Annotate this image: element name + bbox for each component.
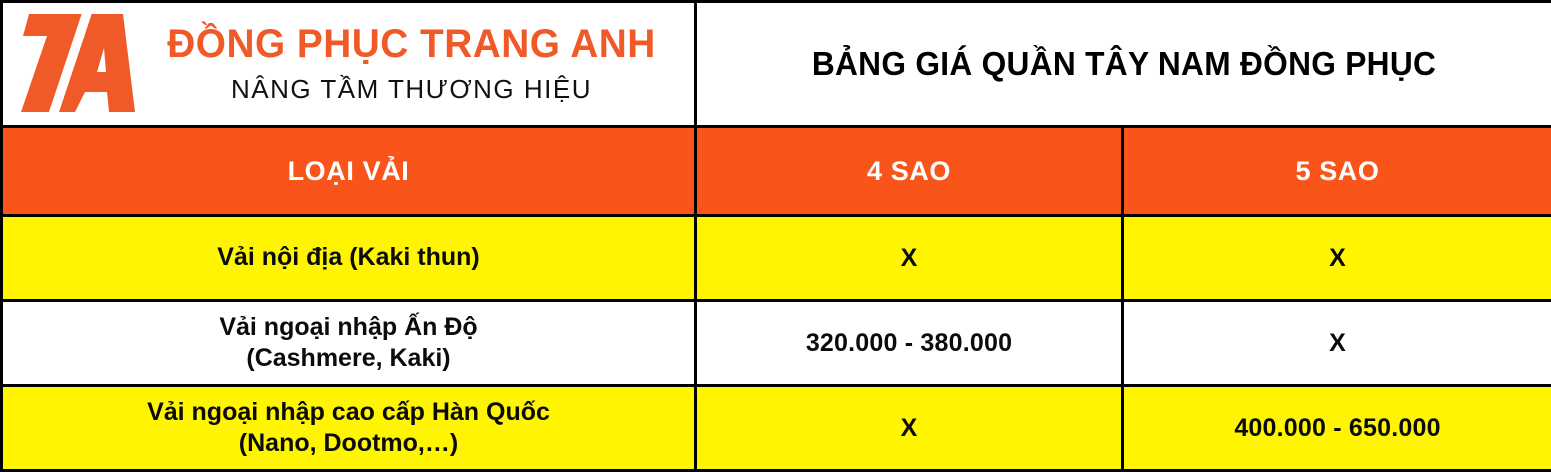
price-4sao-value: X — [697, 244, 1121, 273]
price-5sao-value: X — [1124, 244, 1551, 273]
fabric-name-line2: (Nano, Dootmo,…) — [13, 428, 684, 459]
price-5sao-value: 400.000 - 650.000 — [1124, 414, 1551, 443]
price-5sao-cell: X — [1123, 216, 1551, 301]
fabric-name-line2: (Cashmere, Kaki) — [13, 343, 684, 374]
price-4sao-cell: X — [696, 216, 1123, 301]
column-header-fabric: LOẠI VẢI — [2, 127, 696, 216]
price-4sao-value: X — [697, 414, 1121, 443]
price-4sao-cell: X — [696, 386, 1123, 471]
brand-tagline: NÂNG TẦM THƯƠNG HIỆU — [129, 73, 694, 106]
table-row: Vải nội địa (Kaki thun) X X — [2, 216, 1551, 301]
column-header-5sao: 5 SAO — [1123, 127, 1551, 216]
fabric-name-cell: Vải nội địa (Kaki thun) — [2, 216, 696, 301]
price-table: ĐỒNG PHỤC TRANG ANH NÂNG TẦM THƯƠNG HIỆU… — [0, 0, 1551, 472]
column-header-4sao-label: 4 SAO — [697, 156, 1121, 187]
fabric-name-cell: Vải ngoại nhập Ấn Độ (Cashmere, Kaki) — [2, 301, 696, 386]
price-5sao-cell: X — [1123, 301, 1551, 386]
table-row: Vải ngoại nhập cao cấp Hàn Quốc (Nano, D… — [2, 386, 1551, 471]
brand-cell: ĐỒNG PHỤC TRANG ANH NÂNG TẦM THƯƠNG HIỆU — [2, 2, 696, 127]
page-title: BẢNG GIÁ QUẦN TÂY NAM ĐỒNG PHỤC — [714, 45, 1534, 83]
column-header-5sao-label: 5 SAO — [1124, 156, 1551, 187]
table-header-banner: ĐỒNG PHỤC TRANG ANH NÂNG TẦM THƯƠNG HIỆU… — [2, 2, 1551, 127]
table-row: Vải ngoại nhập Ấn Độ (Cashmere, Kaki) 32… — [2, 301, 1551, 386]
fabric-name-cell: Vải ngoại nhập cao cấp Hàn Quốc (Nano, D… — [2, 386, 696, 471]
fabric-name-line1: Vải nội địa (Kaki thun) — [217, 243, 480, 271]
fabric-name-line1: Vải ngoại nhập cao cấp Hàn Quốc — [13, 397, 684, 428]
column-header-fabric-label: LOẠI VẢI — [3, 156, 694, 187]
price-4sao-value: 320.000 - 380.000 — [697, 329, 1121, 358]
price-4sao-cell: 320.000 - 380.000 — [696, 301, 1123, 386]
column-header-row: LOẠI VẢI 4 SAO 5 SAO — [2, 127, 1551, 216]
brand-name: ĐỒNG PHỤC TRANG ANH — [137, 23, 685, 65]
sheet-title-cell: BẢNG GIÁ QUẦN TÂY NAM ĐỒNG PHỤC — [696, 2, 1551, 127]
brand-logo-icon — [11, 8, 139, 120]
fabric-name-line1: Vải ngoại nhập Ấn Độ — [13, 312, 684, 343]
price-5sao-cell: 400.000 - 650.000 — [1123, 386, 1551, 471]
price-5sao-value: X — [1124, 329, 1551, 358]
column-header-4sao: 4 SAO — [696, 127, 1123, 216]
